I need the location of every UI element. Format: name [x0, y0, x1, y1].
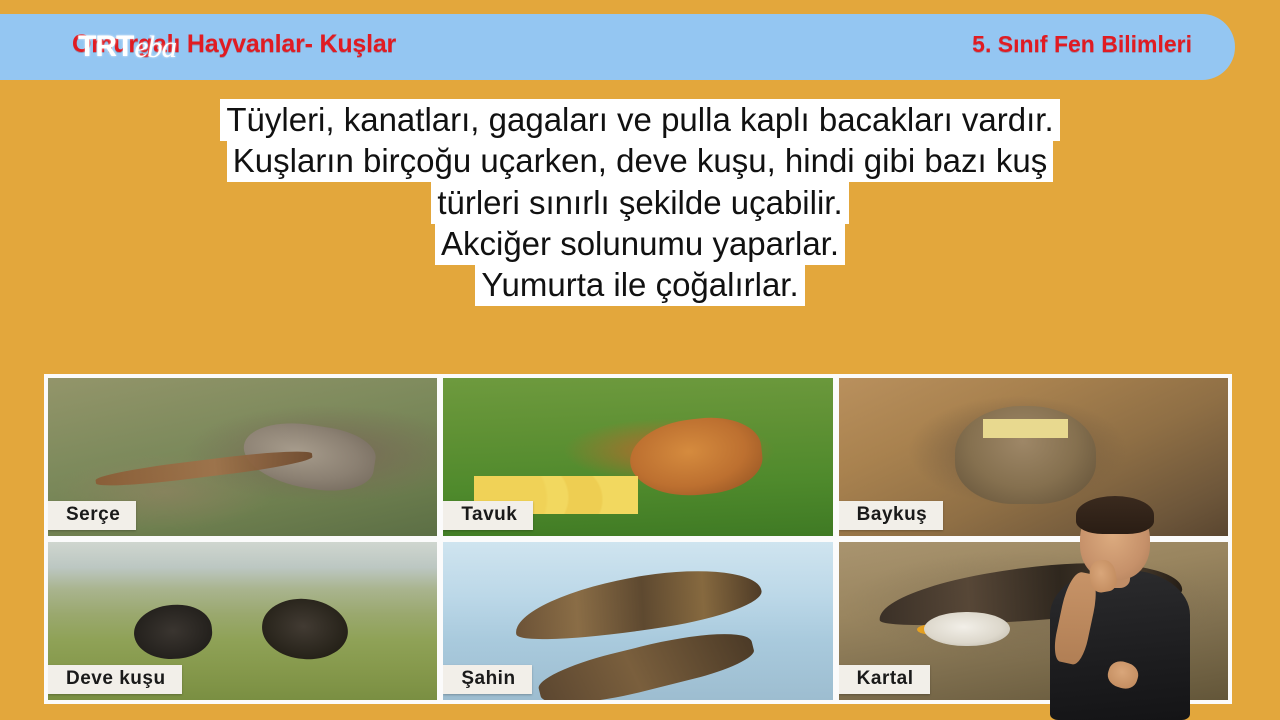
body-line: Tüyleri, kanatları, gagaları ve pulla ka… [0, 100, 1280, 140]
photo-caption: Tavuk [443, 501, 533, 530]
body-text-block: Tüyleri, kanatları, gagaları ve pulla ka… [0, 100, 1280, 306]
photo-caption: Serçe [48, 501, 136, 530]
photo-caption: Şahin [443, 665, 531, 694]
body-line: türleri sınırlı şekilde uçabilir. [0, 183, 1280, 223]
body-line-text: Tüyleri, kanatları, gagaları ve pulla ka… [220, 99, 1059, 141]
photo-cell-sparrow: Serçe [48, 378, 437, 536]
body-line: Akciğer solunumu yaparlar. [0, 224, 1280, 264]
photo-cell-hawk: Şahin [443, 542, 832, 700]
body-line-text: Kuşların birçoğu uçarken, deve kuşu, hin… [227, 140, 1053, 182]
eagle-beak-detail [917, 624, 952, 635]
page-title: Omurgalı Hayvanlar- Kuşlar [72, 30, 396, 59]
photo-cell-eagle: Kartal [839, 542, 1228, 700]
photo-cell-hen: Tavuk [443, 378, 832, 536]
body-line-text: Yumurta ile çoğalırlar. [475, 264, 804, 306]
bird-photo-grid: Serçe Tavuk Baykuş Deve kuşu Şahin Karta… [44, 374, 1232, 704]
body-line-text: türleri sınırlı şekilde uçabilir. [431, 182, 848, 224]
photo-caption: Kartal [839, 665, 930, 694]
slide-canvas: Omurgalı Hayvanlar- Kuşlar 5. Sınıf Fen … [0, 0, 1280, 720]
body-line-text: Akciğer solunumu yaparlar. [435, 223, 845, 265]
photo-caption: Deve kuşu [48, 665, 182, 694]
photo-cell-owl: Baykuş [839, 378, 1228, 536]
photo-caption: Baykuş [839, 501, 944, 530]
body-line: Kuşların birçoğu uçarken, deve kuşu, hin… [0, 141, 1280, 181]
body-line: Yumurta ile çoğalırlar. [0, 265, 1280, 305]
subject-label: 5. Sınıf Fen Bilimleri [972, 31, 1192, 58]
photo-cell-ostrich: Deve kuşu [48, 542, 437, 700]
